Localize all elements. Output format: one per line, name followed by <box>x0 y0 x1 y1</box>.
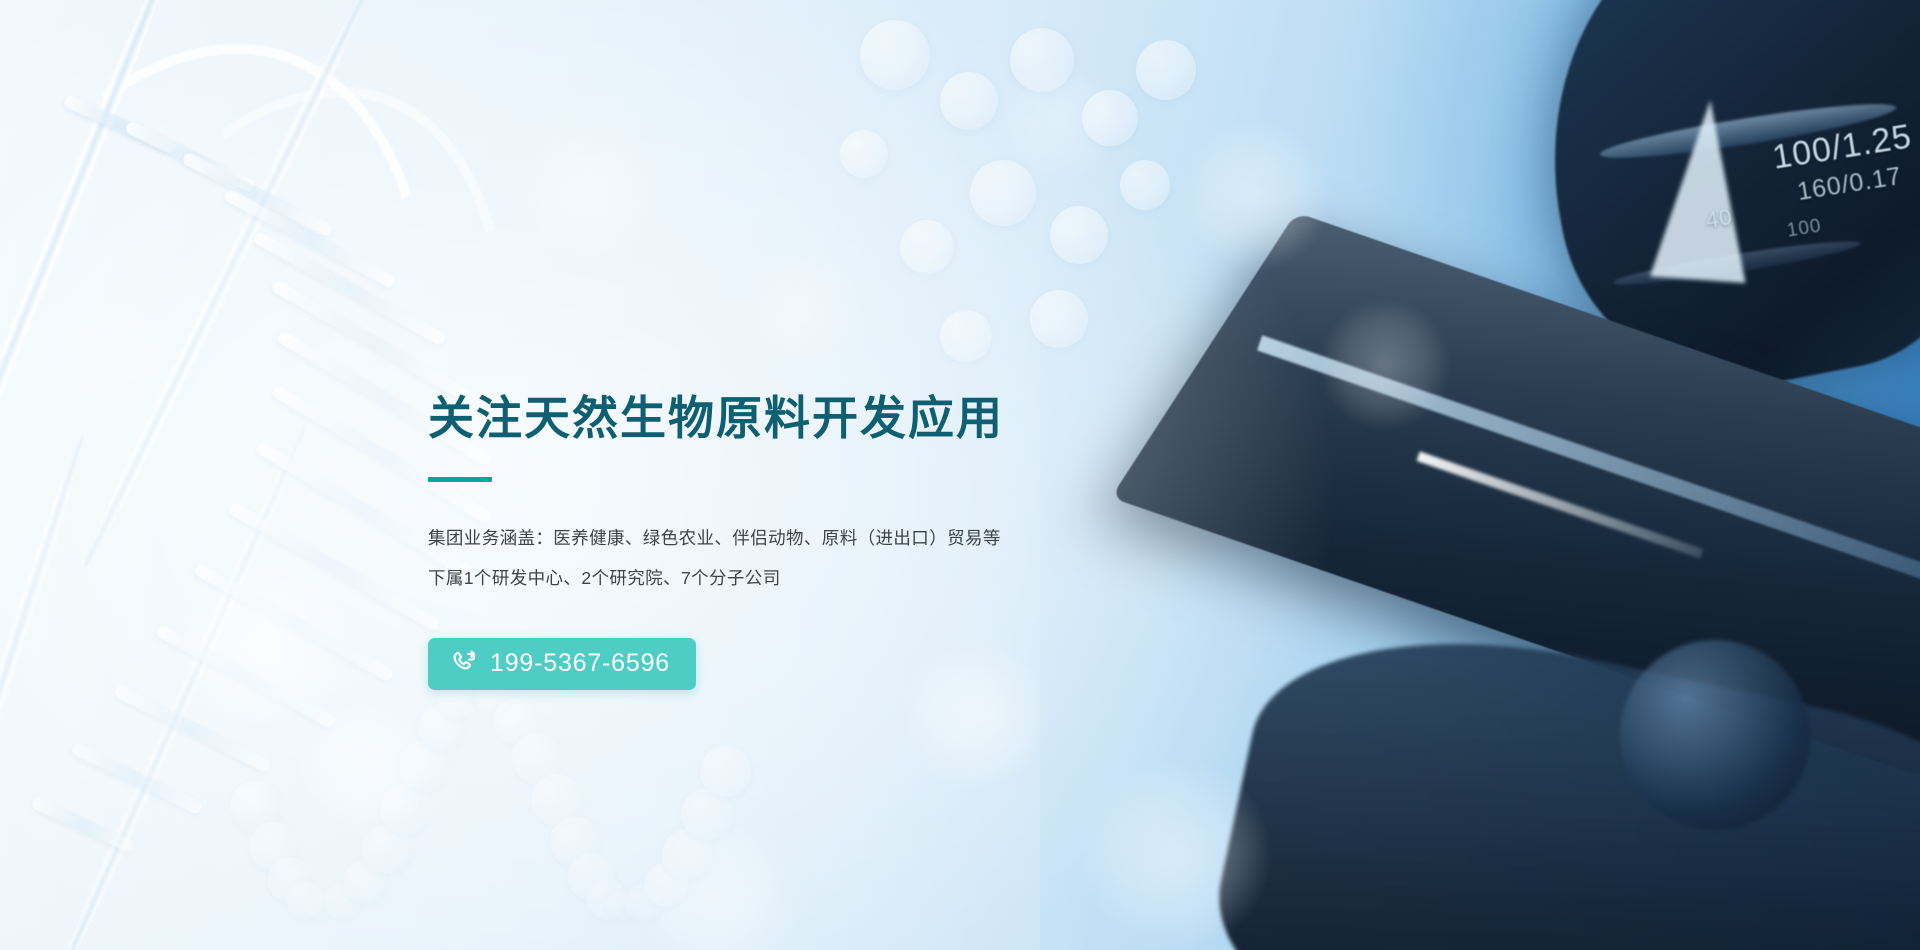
molecule-node <box>1030 290 1088 348</box>
molecule-node <box>1082 90 1138 146</box>
hero-banner: 100/1.25 160/0.17 40 100 关注天然生物原料开发应用 集团… <box>0 0 1920 950</box>
bokeh-light <box>1000 60 1120 180</box>
helix-rung <box>63 94 178 155</box>
objective-band-upper <box>1598 95 1898 168</box>
lens-marking-100x: 100 <box>1786 215 1824 242</box>
helix-bead <box>606 890 637 921</box>
helix-bead <box>493 699 538 744</box>
helix-strand-2 <box>75 0 374 571</box>
helix-bead <box>362 824 412 874</box>
helix-rung <box>124 120 256 193</box>
molecule-node <box>1010 28 1074 92</box>
description-line-1: 集团业务涵盖：医养健康、绿色农业、伴侣动物、原料（进出口）贸易等 <box>428 518 1248 558</box>
molecule-node <box>900 220 954 274</box>
helix-rung <box>112 684 271 774</box>
helix-bead <box>644 863 688 907</box>
bokeh-light <box>60 300 170 410</box>
lens-marking-40x: 40 <box>1704 204 1734 234</box>
bokeh-light <box>640 820 800 950</box>
bokeh-light <box>180 560 350 730</box>
title-divider <box>428 477 492 482</box>
molecule-node <box>1050 206 1108 264</box>
helix-rung <box>181 151 334 237</box>
helix-strand-3 <box>0 432 92 950</box>
helix-bead <box>286 881 325 920</box>
helix-rung <box>70 742 203 816</box>
molecule-chain <box>820 10 1240 340</box>
helix-bead <box>568 853 614 899</box>
helix-bead <box>587 879 627 919</box>
helix-bead <box>418 705 464 751</box>
microscope-stage-edge <box>1257 335 1920 585</box>
helix-bead <box>343 859 388 904</box>
molecule-node <box>1136 40 1196 100</box>
helix-bead <box>681 788 733 840</box>
glass-slide-highlight <box>1417 451 1704 558</box>
helix-bead <box>625 884 662 921</box>
bokeh-light <box>300 700 430 830</box>
molecule-node <box>860 20 930 90</box>
lens-marking-magnification: 100/1.25 <box>1769 117 1914 177</box>
bokeh-light <box>1320 300 1450 430</box>
helix-strand-4 <box>45 423 314 950</box>
phone-forward-icon <box>450 650 477 677</box>
helix-rung <box>30 795 135 853</box>
light-beam-wedge <box>1650 97 1758 283</box>
molecule-node <box>840 130 888 178</box>
objective-band-lower <box>1612 235 1862 292</box>
microscope-arm <box>1509 0 1920 417</box>
helix-rung <box>252 231 446 347</box>
molecule-node <box>970 160 1036 226</box>
helix-bead <box>700 746 751 797</box>
helix-bead <box>399 741 450 792</box>
helix-rung <box>193 563 395 683</box>
helix-rung <box>155 624 338 729</box>
bokeh-light <box>520 120 660 260</box>
bokeh-light <box>740 250 860 370</box>
helix-bead <box>662 829 712 879</box>
helix-bead <box>249 822 299 872</box>
helix-bead <box>512 733 562 783</box>
microscope-base <box>1195 594 1920 950</box>
helix-rung <box>227 501 441 632</box>
helix-bead <box>531 774 583 826</box>
molecule-node <box>940 310 992 362</box>
hero-content: 关注天然生物原料开发应用 集团业务涵盖：医养健康、绿色农业、伴侣动物、原料（进出… <box>428 392 1248 690</box>
lens-marking-tube: 160/0.17 <box>1795 162 1904 207</box>
molecule-node <box>940 72 998 130</box>
helix-bead <box>324 882 362 920</box>
focus-knob <box>1620 640 1810 830</box>
description-line-2: 下属1个研发中心、2个研究院、7个分子公司 <box>428 558 1248 598</box>
helix-bead <box>230 780 282 832</box>
helix-bead <box>380 783 432 835</box>
page-title: 关注天然生物原料开发应用 <box>428 392 1248 445</box>
bokeh-light <box>1080 760 1270 950</box>
helix-bead <box>268 857 314 903</box>
helix-strand-1 <box>0 0 178 540</box>
bokeh-light <box>1180 120 1330 270</box>
molecule-node <box>1120 160 1170 210</box>
helix-bead <box>305 890 335 920</box>
phone-cta-button[interactable]: 199-5367-6596 <box>428 638 696 690</box>
helix-rung <box>270 279 477 406</box>
helix-bead <box>550 817 601 868</box>
phone-number-label: 199-5367-6596 <box>490 651 670 676</box>
helix-rung <box>223 188 397 289</box>
